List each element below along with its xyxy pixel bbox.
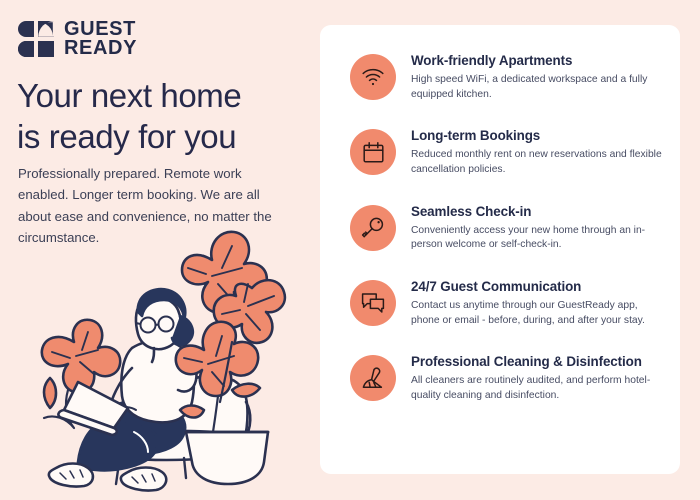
headline-line-1: Your next home bbox=[17, 77, 241, 114]
feature-body: Work-friendly Apartments High speed WiFi… bbox=[411, 51, 666, 102]
feature-title: Professional Cleaning & Disinfection bbox=[411, 354, 666, 370]
feature-description: Conveniently access your new home throug… bbox=[411, 224, 666, 253]
feature-description: High speed WiFi, a dedicated workspace a… bbox=[411, 73, 666, 102]
feature-description: Reduced monthly rent on new reservations… bbox=[411, 148, 666, 177]
brand-logo[interactable]: GUEST READY bbox=[17, 20, 137, 59]
brand-name-line2: READY bbox=[64, 39, 137, 58]
feature-title: Work-friendly Apartments bbox=[411, 53, 666, 69]
feature-title: Long-term Bookings bbox=[411, 128, 666, 144]
feature-item-professional-cleaning[interactable]: Professional Cleaning & Disinfection All… bbox=[350, 352, 666, 403]
features-card: Work-friendly Apartments High speed WiFi… bbox=[320, 25, 680, 474]
illustration-svg bbox=[36, 222, 312, 494]
feature-list: Work-friendly Apartments High speed WiFi… bbox=[320, 25, 680, 403]
feature-body: Professional Cleaning & Disinfection All… bbox=[411, 352, 666, 403]
left-column: GUEST READY Your next home is ready for … bbox=[0, 0, 312, 500]
feature-item-seamless-check-in[interactable]: Seamless Check-in Conveniently access yo… bbox=[350, 202, 666, 253]
broom-icon bbox=[350, 355, 396, 401]
feature-body: 24/7 Guest Communication Contact us anyt… bbox=[411, 277, 666, 328]
feature-item-work-friendly-apartments[interactable]: Work-friendly Apartments High speed WiFi… bbox=[350, 51, 666, 102]
brand-wordmark: GUEST READY bbox=[64, 20, 137, 59]
key-icon bbox=[350, 205, 396, 251]
feature-body: Seamless Check-in Conveniently access yo… bbox=[411, 202, 666, 253]
feature-description: Contact us anytime through our GuestRead… bbox=[411, 299, 666, 328]
calendar-icon bbox=[350, 129, 396, 175]
page-root: GUEST READY Your next home is ready for … bbox=[0, 0, 700, 500]
wifi-icon bbox=[350, 54, 396, 100]
guestready-quadrant-logo-icon bbox=[17, 20, 55, 58]
feature-title: Seamless Check-in bbox=[411, 204, 666, 220]
feature-item-long-term-bookings[interactable]: Long-term Bookings Reduced monthly rent … bbox=[350, 126, 666, 177]
feature-body: Long-term Bookings Reduced monthly rent … bbox=[411, 126, 666, 177]
page-headline: Your next home is ready for you bbox=[17, 76, 302, 158]
right-plant bbox=[176, 232, 285, 484]
feature-description: All cleaners are routinely audited, and … bbox=[411, 374, 666, 403]
feature-title: 24/7 Guest Communication bbox=[411, 279, 666, 295]
woman-working-on-laptop-illustration bbox=[36, 222, 312, 494]
feature-item-guest-communication[interactable]: 24/7 Guest Communication Contact us anyt… bbox=[350, 277, 666, 328]
headline-line-2: is ready for you bbox=[17, 117, 302, 158]
chat-bubbles-icon bbox=[350, 280, 396, 326]
